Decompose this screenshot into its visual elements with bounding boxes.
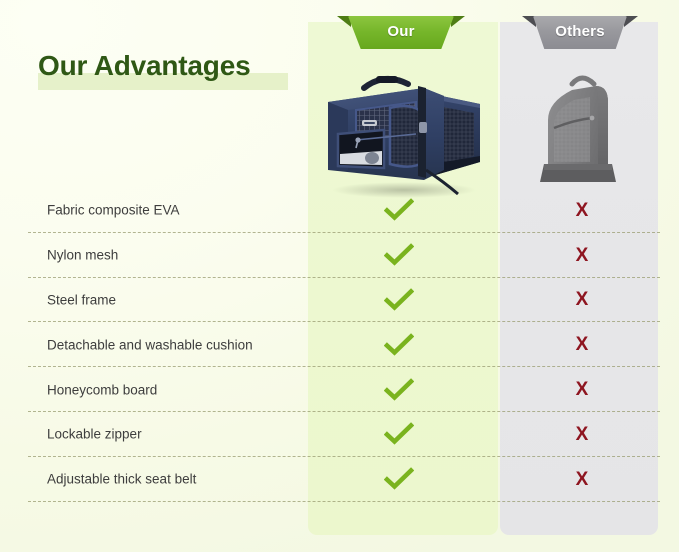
cell-others: X (500, 457, 658, 502)
cell-others: X (500, 367, 658, 412)
table-row: Steel frame X (0, 278, 679, 323)
row-label: Adjustable thick seat belt (47, 472, 196, 487)
check-icon (384, 288, 414, 312)
cell-others: X (500, 233, 658, 278)
row-label: Honeycomb board (47, 382, 157, 397)
x-icon: X (576, 425, 589, 444)
page-title: Our Advantages (38, 52, 250, 80)
badge-our: Our (348, 16, 454, 49)
table-row: Fabric composite EVA X (0, 188, 679, 233)
table-row: Lockable zipper X (0, 412, 679, 457)
cell-our (308, 457, 498, 502)
cell-our (308, 412, 498, 457)
cell-our (308, 233, 498, 278)
row-label: Nylon mesh (47, 248, 118, 263)
check-icon (384, 243, 414, 267)
x-icon: X (576, 201, 589, 220)
x-icon: X (576, 335, 589, 354)
badge-others-label: Others (555, 24, 605, 39)
x-icon: X (576, 380, 589, 399)
badge-our-label: Our (387, 24, 414, 39)
feature-rows: Fabric composite EVA X Nylon mesh X (0, 188, 679, 502)
cell-our (308, 322, 498, 367)
table-row: Detachable and washable cushion X (0, 322, 679, 367)
page-title-text: Our Advantages (38, 52, 250, 80)
product-image-others (528, 62, 636, 192)
cell-others: X (500, 188, 658, 233)
row-label: Lockable zipper (47, 427, 142, 442)
cell-our (308, 278, 498, 323)
check-icon (384, 333, 414, 357)
check-icon (384, 378, 414, 402)
cell-others: X (500, 278, 658, 323)
badge-others-body: Others (533, 16, 627, 49)
cell-our (308, 367, 498, 412)
row-separator (28, 501, 660, 502)
badge-others: Others (533, 16, 627, 49)
cell-others: X (500, 322, 658, 367)
x-icon: X (576, 290, 589, 309)
check-icon (384, 467, 414, 491)
table-row: Honeycomb board X (0, 367, 679, 412)
comparison-chart: Our Advantages Our Others (0, 0, 679, 552)
table-row: Adjustable thick seat belt X (0, 457, 679, 502)
check-icon (384, 422, 414, 446)
table-row: Nylon mesh X (0, 233, 679, 278)
row-label: Fabric composite EVA (47, 203, 180, 218)
badge-our-body: Our (348, 16, 454, 49)
x-icon: X (576, 470, 589, 489)
row-label: Detachable and washable cushion (47, 337, 253, 352)
check-icon (384, 198, 414, 222)
cell-others: X (500, 412, 658, 457)
x-icon: X (576, 246, 589, 265)
row-label: Steel frame (47, 292, 116, 307)
product-image-our (312, 58, 494, 198)
cell-our (308, 188, 498, 233)
